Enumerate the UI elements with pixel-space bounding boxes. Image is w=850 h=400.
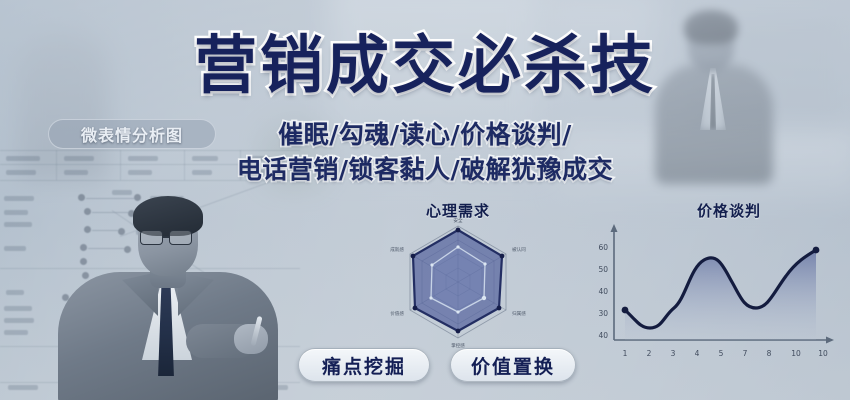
radar-label-0: 安全 xyxy=(453,217,463,224)
subtitle-container: 催眠/勾魂/读心/价格谈判/ 电话营销/锁客黏人/破解犹豫成交 xyxy=(0,118,850,187)
radar-chart: 心理需求 xyxy=(336,200,580,350)
line-chart-ytick-1: 50 xyxy=(598,265,608,274)
line-chart-ytick-0: 60 xyxy=(598,243,608,252)
line-chart-xtick-1: 2 xyxy=(647,349,652,358)
radar-label-1: 被认同 xyxy=(512,246,526,253)
subtitle-line-1: 催眠/勾魂/读心/价格谈判/ xyxy=(0,118,850,153)
presenter-glasses-right xyxy=(169,230,192,245)
marketing-banner: 微表情分析图 营销成交必杀技 催眠/勾魂/读心/价格谈判/ 电话营销/锁客黏人/… xyxy=(0,0,850,400)
radar-chart-svg: 安全 被认同 归属感 掌控感 价值感 成就感 xyxy=(336,216,580,350)
page-title: 营销成交必杀技 xyxy=(194,34,656,97)
line-chart-xtick-4: 5 xyxy=(719,349,724,358)
line-chart-svg: 60 50 40 30 40 1 2 3 4 5 7 8 10 10 xyxy=(578,216,840,364)
line-chart-xtick-3: 4 xyxy=(695,349,700,358)
line-chart-ytick-3: 30 xyxy=(598,309,608,318)
line-chart-xtick-6: 8 xyxy=(767,349,772,358)
line-chart: 价格谈判 60 50 40 3 xyxy=(578,200,840,360)
line-chart-xtick-8: 10 xyxy=(818,349,828,358)
tag-value-exchange: 价值置换 xyxy=(450,348,576,382)
radar-label-5: 成就感 xyxy=(390,246,404,253)
radar-label-4: 价值感 xyxy=(390,310,404,317)
presenter-glasses-left xyxy=(140,230,163,245)
line-chart-xtick-5: 7 xyxy=(743,349,748,358)
line-chart-point-end xyxy=(813,247,820,254)
presenter-glasses-bridge xyxy=(163,236,170,238)
line-chart-xtick-2: 3 xyxy=(671,349,676,358)
radar-label-2: 归属感 xyxy=(512,310,526,317)
line-chart-xtick-7: 10 xyxy=(791,349,801,358)
line-chart-point-start xyxy=(622,307,629,314)
presenter-photo xyxy=(58,196,278,400)
line-chart-xtick-0: 1 xyxy=(623,349,628,358)
line-chart-ytick-4: 40 xyxy=(598,331,608,340)
headline-container: 营销成交必杀技 xyxy=(0,34,850,97)
line-chart-ytick-2: 40 xyxy=(598,287,608,296)
tag-pain-point: 痛点挖掘 xyxy=(298,348,430,382)
subtitle-line-2: 电话营销/锁客黏人/破解犹豫成交 xyxy=(0,153,850,188)
